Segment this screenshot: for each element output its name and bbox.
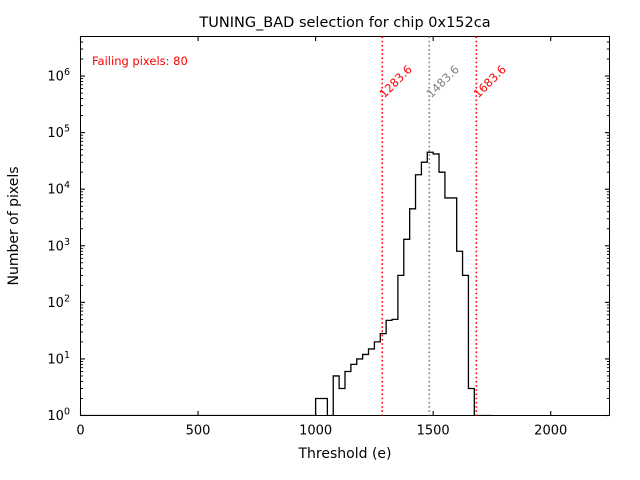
- x-tick-label: 0: [76, 424, 84, 439]
- x-tick-label: 1500: [417, 424, 450, 439]
- y-axis-title: Number of pixels: [6, 166, 22, 285]
- x-axis-title: Threshold (e): [298, 446, 392, 462]
- page-title: TUNING_BAD selection for chip 0x152ca: [198, 15, 490, 31]
- failing-pixels-annotation: Failing pixels: 80: [92, 54, 188, 68]
- histogram-plot: TUNING_BAD selection for chip 0x152ca 10…: [0, 0, 640, 480]
- x-tick-label: 1000: [299, 424, 332, 439]
- matplotlib-figure: TUNING_BAD selection for chip 0x152ca 10…: [0, 0, 640, 480]
- x-tick-label: 500: [186, 424, 211, 439]
- figure-background: [0, 0, 640, 480]
- x-tick-label: 2000: [534, 424, 567, 439]
